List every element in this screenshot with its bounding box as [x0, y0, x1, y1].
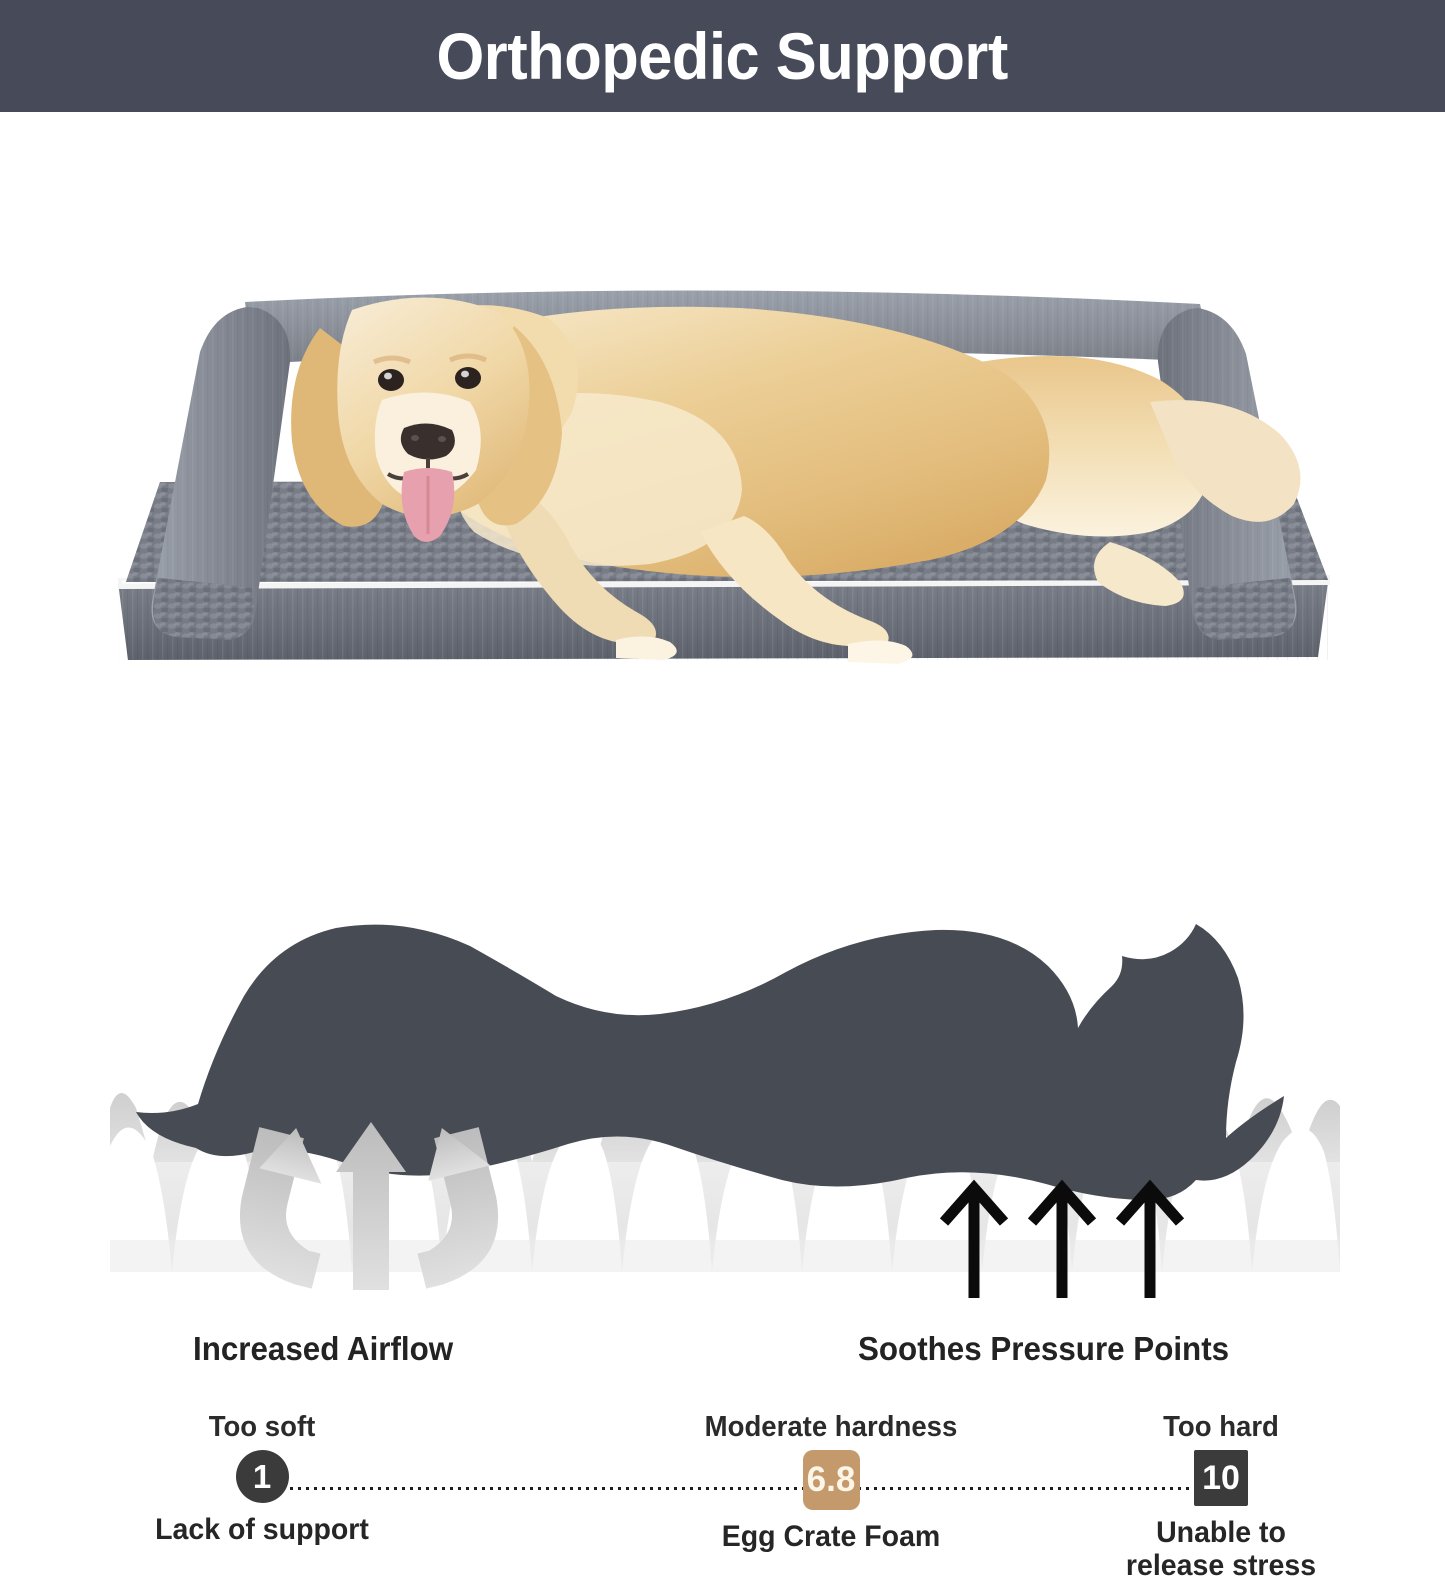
scale-node-bottom-label-line2: release stress — [1097, 1549, 1346, 1582]
hardness-scale: Too soft 1 Lack of support Moderate hard… — [0, 700, 1445, 900]
dog-on-bed-illustration — [0, 112, 1445, 692]
scale-node-top-label: Moderate hardness — [684, 1412, 979, 1442]
scale-node-bottom-label: Egg Crate Foam — [684, 1520, 979, 1553]
header-banner: Orthopedic Support — [0, 0, 1445, 112]
page-title: Orthopedic Support — [437, 23, 1008, 89]
product-photo — [0, 112, 1445, 692]
label-increased-airflow: Increased Airflow — [193, 1330, 453, 1368]
scale-node-bottom-label-line1: Unable to — [1097, 1516, 1346, 1549]
scale-node-bottom-label: Lack of support — [120, 1513, 405, 1546]
scale-node-too-hard: Too hard 10 Unable to release stress — [1090, 1412, 1352, 1582]
egg-crate-foam-illustration — [0, 900, 1445, 1330]
bottom-labels: Increased Airflow Soothes Pressure Point… — [0, 1322, 1445, 1391]
scale-badge-1: 1 — [236, 1450, 289, 1503]
label-soothes-pressure-points: Soothes Pressure Points — [858, 1330, 1229, 1368]
scale-node-too-soft: Too soft 1 Lack of support — [112, 1412, 412, 1546]
pressure-arrows — [944, 1188, 1180, 1298]
scale-node-top-label: Too hard — [1097, 1412, 1346, 1442]
airflow-arrows — [224, 1119, 513, 1290]
foam-cross-section-diagram — [0, 900, 1445, 1330]
scale-node-top-label: Too soft — [120, 1412, 405, 1442]
scale-badge-6-8: 6.8 — [803, 1450, 860, 1510]
scale-badge-10: 10 — [1194, 1450, 1248, 1506]
scale-node-moderate: Moderate hardness 6.8 Egg Crate Foam — [676, 1412, 986, 1553]
